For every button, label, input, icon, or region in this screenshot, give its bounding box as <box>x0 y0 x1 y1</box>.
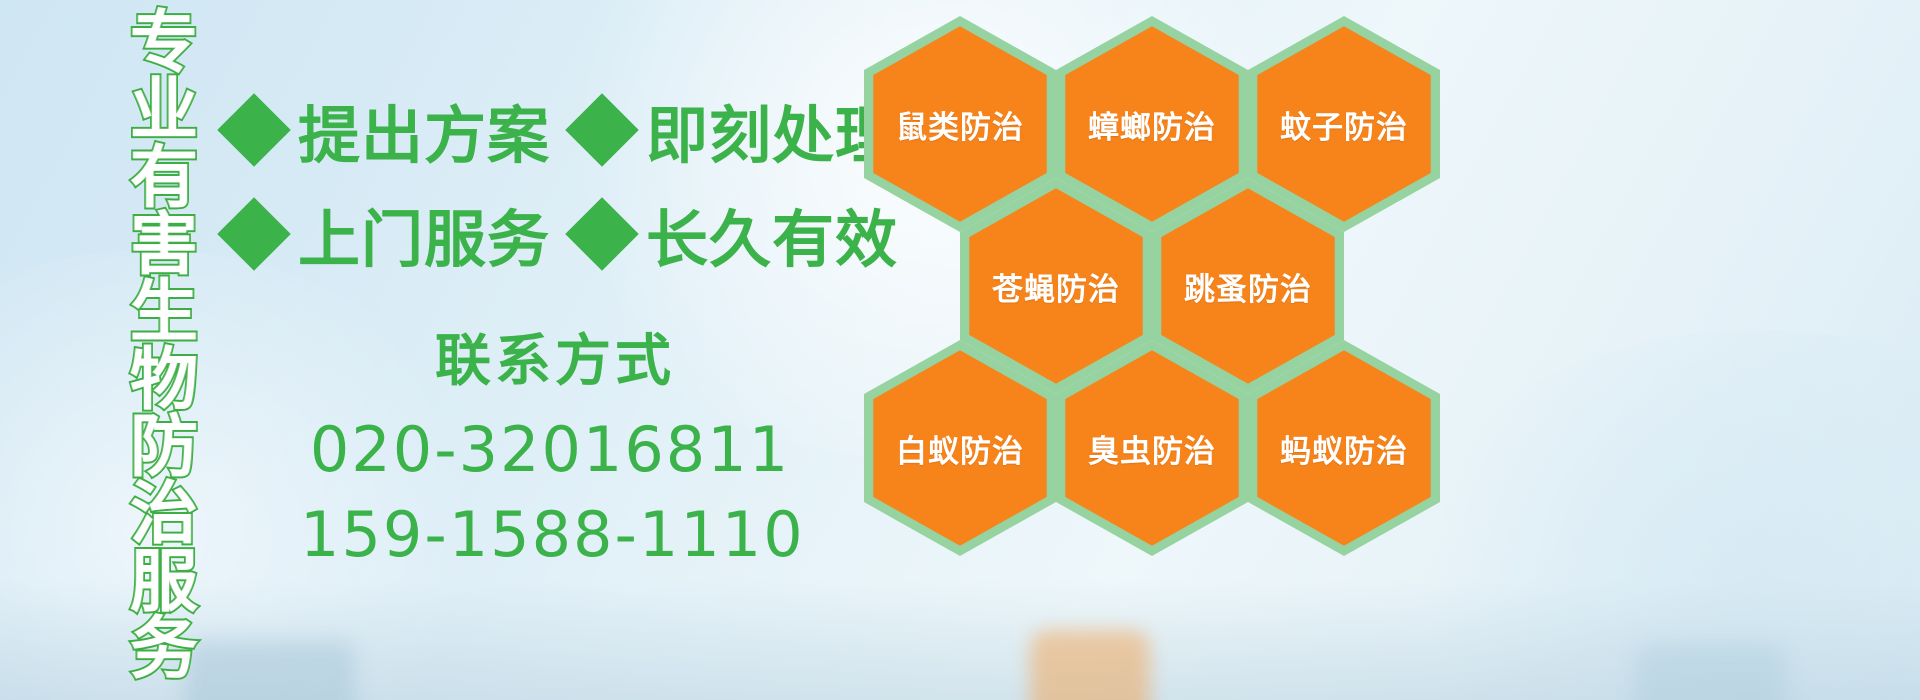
service-honeycomb: 鼠类防治 蟑螂防治 蚊子防治 苍蝇防治 跳蚤防治 白蚁防治 <box>856 8 1456 568</box>
vertical-headline-char: 务 <box>130 616 198 683</box>
feature-row: 提出方案 即刻处理 <box>228 78 868 182</box>
phone-landline[interactable]: 020-32016811 <box>300 413 800 486</box>
contact-block: 联系方式 020-32016811 159-1588-1110 <box>300 316 800 571</box>
vertical-headline-char: 害 <box>130 212 198 279</box>
hex-label: 白蚁防治 <box>864 340 1056 556</box>
diamond-icon <box>565 93 639 167</box>
feature-label: 提出方案 <box>298 85 550 175</box>
feature-list: 提出方案 即刻处理 上门服务 长久有效 <box>228 78 868 286</box>
feature-row: 上门服务 长久有效 <box>228 182 868 286</box>
pest-control-banner: 专 业 有 害 生 物 防 治 服 务 提出方案 即刻处理 上门服务 <box>0 0 1920 700</box>
hex-tile-bedbug-control[interactable]: 臭虫防治 <box>1056 340 1248 556</box>
hex-label: 臭虫防治 <box>1056 340 1248 556</box>
diamond-icon <box>217 197 291 271</box>
feature-label: 上门服务 <box>298 189 550 279</box>
feature-item-propose-plan: 提出方案 <box>228 85 550 175</box>
vertical-headline-char: 专 <box>130 10 198 77</box>
hex-label: 蚂蚁防治 <box>1248 340 1440 556</box>
vertical-headline-char: 业 <box>130 77 198 144</box>
contact-heading: 联系方式 <box>310 316 800 397</box>
vertical-headline-char: 服 <box>130 549 198 616</box>
vertical-headline: 专 业 有 害 生 物 防 治 服 务 <box>112 10 216 700</box>
background-blur-shape-center <box>1030 630 1150 700</box>
vertical-headline-char: 治 <box>130 481 198 548</box>
diamond-icon <box>565 197 639 271</box>
vertical-headline-char: 生 <box>130 279 198 346</box>
background-blur-shape-right <box>1635 644 1785 700</box>
hex-tile-termite-control[interactable]: 白蚁防治 <box>864 340 1056 556</box>
feature-item-long-lasting: 长久有效 <box>576 189 898 279</box>
vertical-headline-char: 防 <box>130 414 198 481</box>
hex-tile-ant-control[interactable]: 蚂蚁防治 <box>1248 340 1440 556</box>
feature-item-immediate-action: 即刻处理 <box>576 85 898 175</box>
vertical-headline-char: 有 <box>130 145 198 212</box>
phone-mobile[interactable]: 159-1588-1110 <box>300 498 800 571</box>
diamond-icon <box>217 93 291 167</box>
vertical-headline-char: 物 <box>130 347 198 414</box>
feature-item-onsite-service: 上门服务 <box>228 189 550 279</box>
